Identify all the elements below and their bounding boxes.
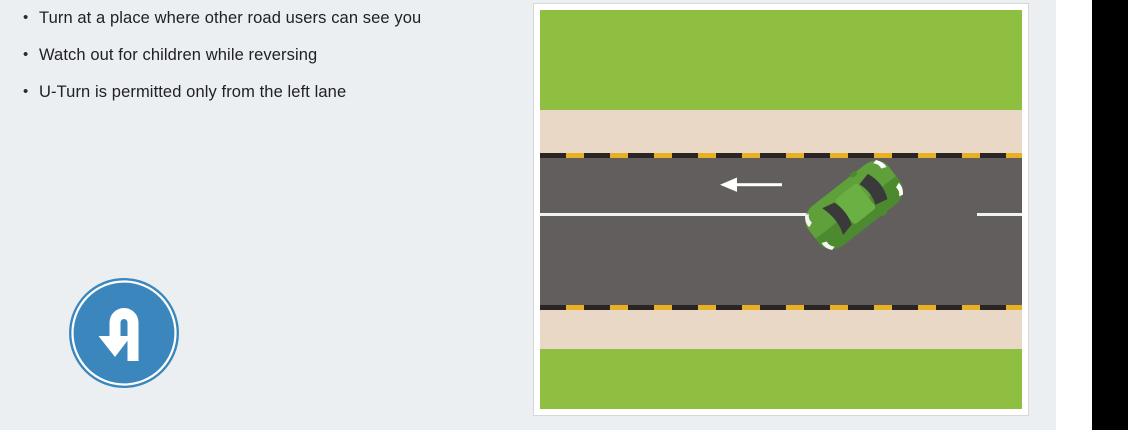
sidewalk-bottom-band [540, 310, 1022, 349]
road-scene [540, 10, 1022, 409]
traffic-direction-arrow-icon [720, 177, 782, 193]
u-turn-sign [68, 277, 180, 389]
bullet-list: • Turn at a place where other road users… [18, 6, 448, 117]
bullet-marker-icon: • [18, 80, 39, 104]
right-white-gutter [1056, 0, 1092, 430]
grass-bottom-band [540, 349, 1022, 409]
bullet-marker-icon: • [18, 43, 39, 67]
list-item: • Watch out for children while reversing [18, 43, 448, 67]
road-lower-band [540, 216, 1022, 305]
sign-face [77, 286, 172, 381]
list-item: • U-Turn is permitted only from the left… [18, 80, 448, 104]
list-item-text: Turn at a place where other road users c… [39, 6, 421, 30]
sidewalk-top-band [540, 110, 1022, 153]
right-black-band [1092, 0, 1128, 430]
bullet-marker-icon: • [18, 6, 39, 30]
grass-top-band [540, 10, 1022, 110]
list-item-text: Watch out for children while reversing [39, 43, 317, 67]
slide-root: • Turn at a place where other road users… [0, 0, 1128, 430]
list-item: • Turn at a place where other road users… [18, 6, 448, 30]
list-item-text: U-Turn is permitted only from the left l… [39, 80, 346, 104]
road-illustration-card [533, 3, 1029, 416]
